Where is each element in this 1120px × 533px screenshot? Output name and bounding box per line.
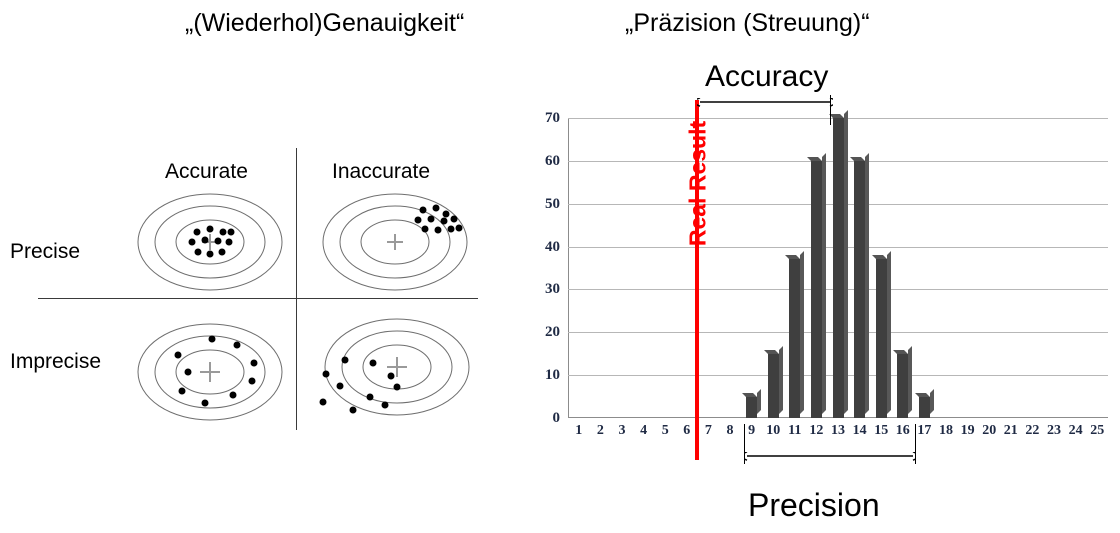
precision-label: Precision <box>748 487 880 524</box>
bar <box>789 259 800 418</box>
slide-root: „(Wiederhol)Genauigkeit“ „Präzision (Str… <box>0 0 1120 533</box>
bar <box>746 397 757 418</box>
x-axis-tick: 7 <box>697 422 719 440</box>
target-dots-inaccurate-imprecise <box>320 357 401 414</box>
bar <box>854 161 865 418</box>
x-axis-tick: 13 <box>827 422 849 440</box>
y-axis: 010203040506070 <box>520 110 560 420</box>
accuracy-arrow <box>697 94 833 110</box>
x-axis-tick: 25 <box>1086 422 1108 440</box>
plot-area <box>568 118 1108 418</box>
target-accurate-precise <box>130 188 290 296</box>
x-axis-tick: 21 <box>1000 422 1022 440</box>
bar <box>768 354 779 418</box>
x-axis-tick: 23 <box>1043 422 1065 440</box>
x-axis-tick: 2 <box>589 422 611 440</box>
y-axis-tick: 10 <box>545 368 560 383</box>
x-axis-tick: 17 <box>913 422 935 440</box>
column-label-accurate: Accurate <box>165 160 248 184</box>
target-inaccurate-imprecise <box>305 315 480 440</box>
x-axis-tick: 4 <box>633 422 655 440</box>
row-label-precise: Precise <box>10 240 80 264</box>
x-axis-tick: 5 <box>654 422 676 440</box>
x-axis-tick: 16 <box>892 422 914 440</box>
real-result-label: Real Result <box>685 114 712 254</box>
matrix-horizontal-divider <box>38 298 478 299</box>
x-axis-tick: 8 <box>719 422 741 440</box>
y-axis-tick: 20 <box>545 325 560 340</box>
y-axis-tick: 50 <box>545 197 560 212</box>
x-axis-tick: 15 <box>870 422 892 440</box>
bar <box>876 259 887 418</box>
accuracy-label: Accuracy <box>705 60 828 94</box>
y-axis-tick: 70 <box>545 111 560 126</box>
histogram-chart: 010203040506070 123456789101112131415161… <box>520 110 1120 533</box>
bar <box>919 397 930 418</box>
target-accurate-imprecise <box>130 315 290 430</box>
target-inaccurate-precise <box>315 188 475 296</box>
x-axis-tick: 1 <box>568 422 590 440</box>
x-axis-tick: 12 <box>805 422 827 440</box>
matrix-vertical-divider <box>296 148 297 430</box>
x-axis-tick: 3 <box>611 422 633 440</box>
x-axis-tick: 19 <box>957 422 979 440</box>
y-axis-tick: 0 <box>553 411 561 426</box>
y-axis-tick: 40 <box>545 240 560 255</box>
target-dots-inaccurate-precise <box>415 205 463 234</box>
x-axis-tick: 22 <box>1021 422 1043 440</box>
bar <box>811 161 822 418</box>
title-right: „Präzision (Streuung)“ <box>625 8 870 38</box>
x-axis-tick: 20 <box>978 422 1000 440</box>
x-axis-tick: 10 <box>762 422 784 440</box>
x-axis: 1234567891011121314151617181920212223242… <box>568 422 1113 444</box>
row-label-imprecise: Imprecise <box>10 350 101 374</box>
accuracy-precision-matrix: Accurate Inaccurate Precise Imprecise <box>0 140 480 440</box>
y-axis-tick: 60 <box>545 154 560 169</box>
bar <box>833 118 844 418</box>
x-axis-tick: 11 <box>784 422 806 440</box>
title-left: „(Wiederhol)Genauigkeit“ <box>185 8 464 38</box>
x-axis-tick: 14 <box>849 422 871 440</box>
x-axis-tick: 24 <box>1065 422 1087 440</box>
x-axis-tick: 18 <box>935 422 957 440</box>
bar <box>897 354 908 418</box>
y-axis-tick: 30 <box>545 282 560 297</box>
precision-arrow <box>744 448 916 464</box>
column-label-inaccurate: Inaccurate <box>332 160 430 184</box>
